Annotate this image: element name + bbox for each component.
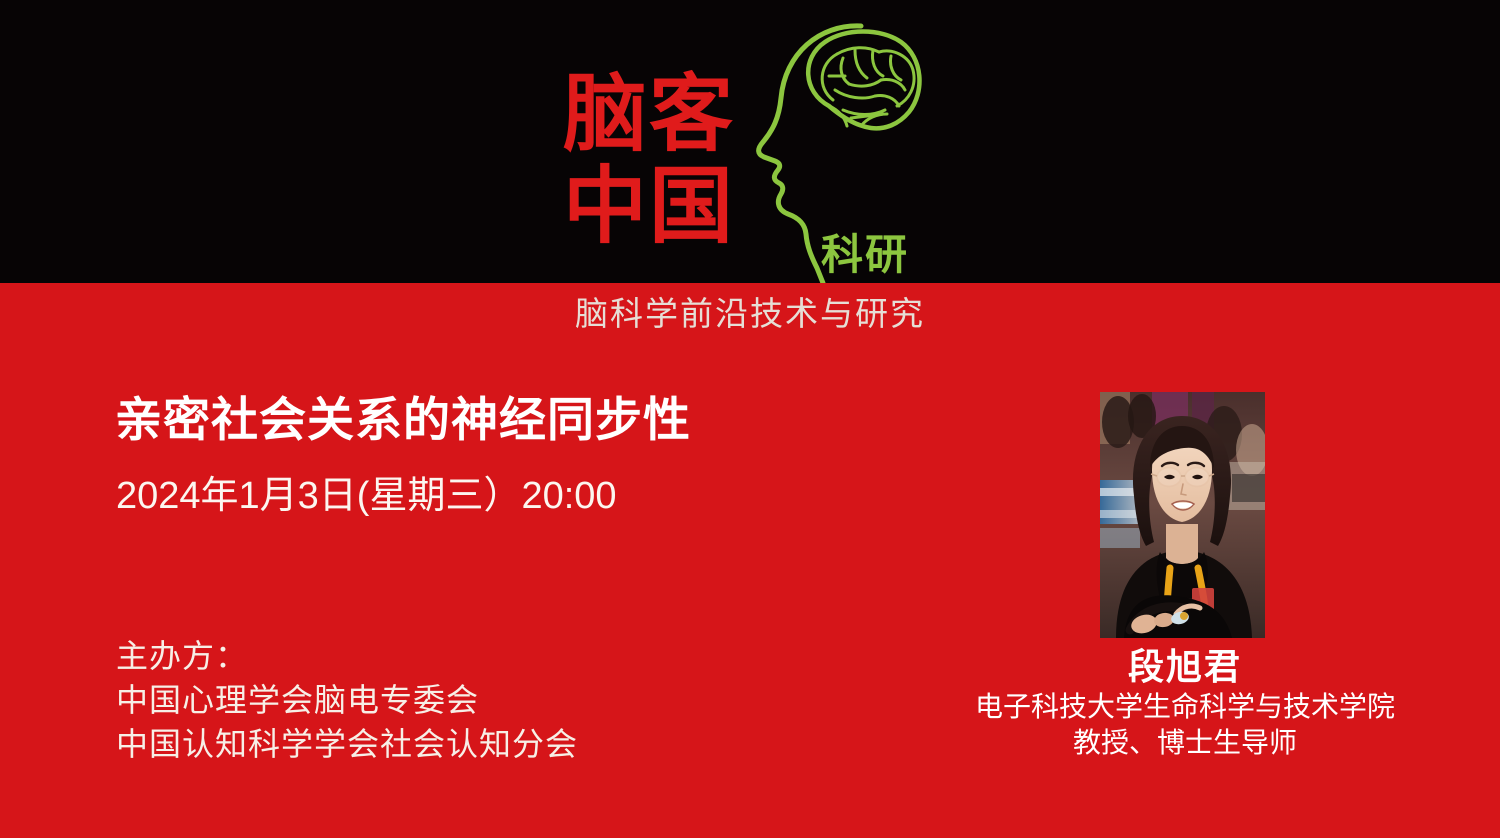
webinar-poster: 脑客 中国	[0, 0, 1500, 838]
organizer-entry: 中国心理学会脑电专委会	[116, 678, 578, 722]
event-datetime: 2024年1月3日(星期三）20:00	[116, 471, 617, 521]
brand-tagline: 脑科学前沿技术与研究	[0, 294, 1500, 334]
organizer-entry: 中国认知科学学会社会认知分会	[116, 722, 578, 766]
event-title: 亲密社会关系的神经同步性	[115, 390, 691, 450]
organizer-label: 主办方：	[116, 634, 578, 678]
speaker-info: 段旭君 电子科技大学生命科学与技术学院 教授、博士生导师	[940, 645, 1430, 761]
speaker-affiliation: 电子科技大学生命科学与技术学院	[940, 689, 1430, 725]
speaker-name: 段旭君	[940, 645, 1430, 689]
brand-logo: 脑客 中国	[563, 0, 943, 283]
speaker-photo	[1100, 392, 1265, 638]
brand-logo-subtext: 科研	[821, 232, 909, 278]
speaker-portrait-image	[1100, 392, 1265, 638]
brand-logo-line1: 脑客	[563, 67, 735, 161]
speaker-role: 教授、博士生导师	[940, 725, 1430, 761]
header-band: 脑客 中国	[0, 0, 1500, 283]
organizer-block: 主办方： 中国心理学会脑电专委会 中国认知科学学会社会认知分会	[116, 634, 578, 766]
brand-logo-characters: 脑客 中国	[563, 68, 735, 252]
brand-logo-line2: 中国	[563, 160, 735, 252]
